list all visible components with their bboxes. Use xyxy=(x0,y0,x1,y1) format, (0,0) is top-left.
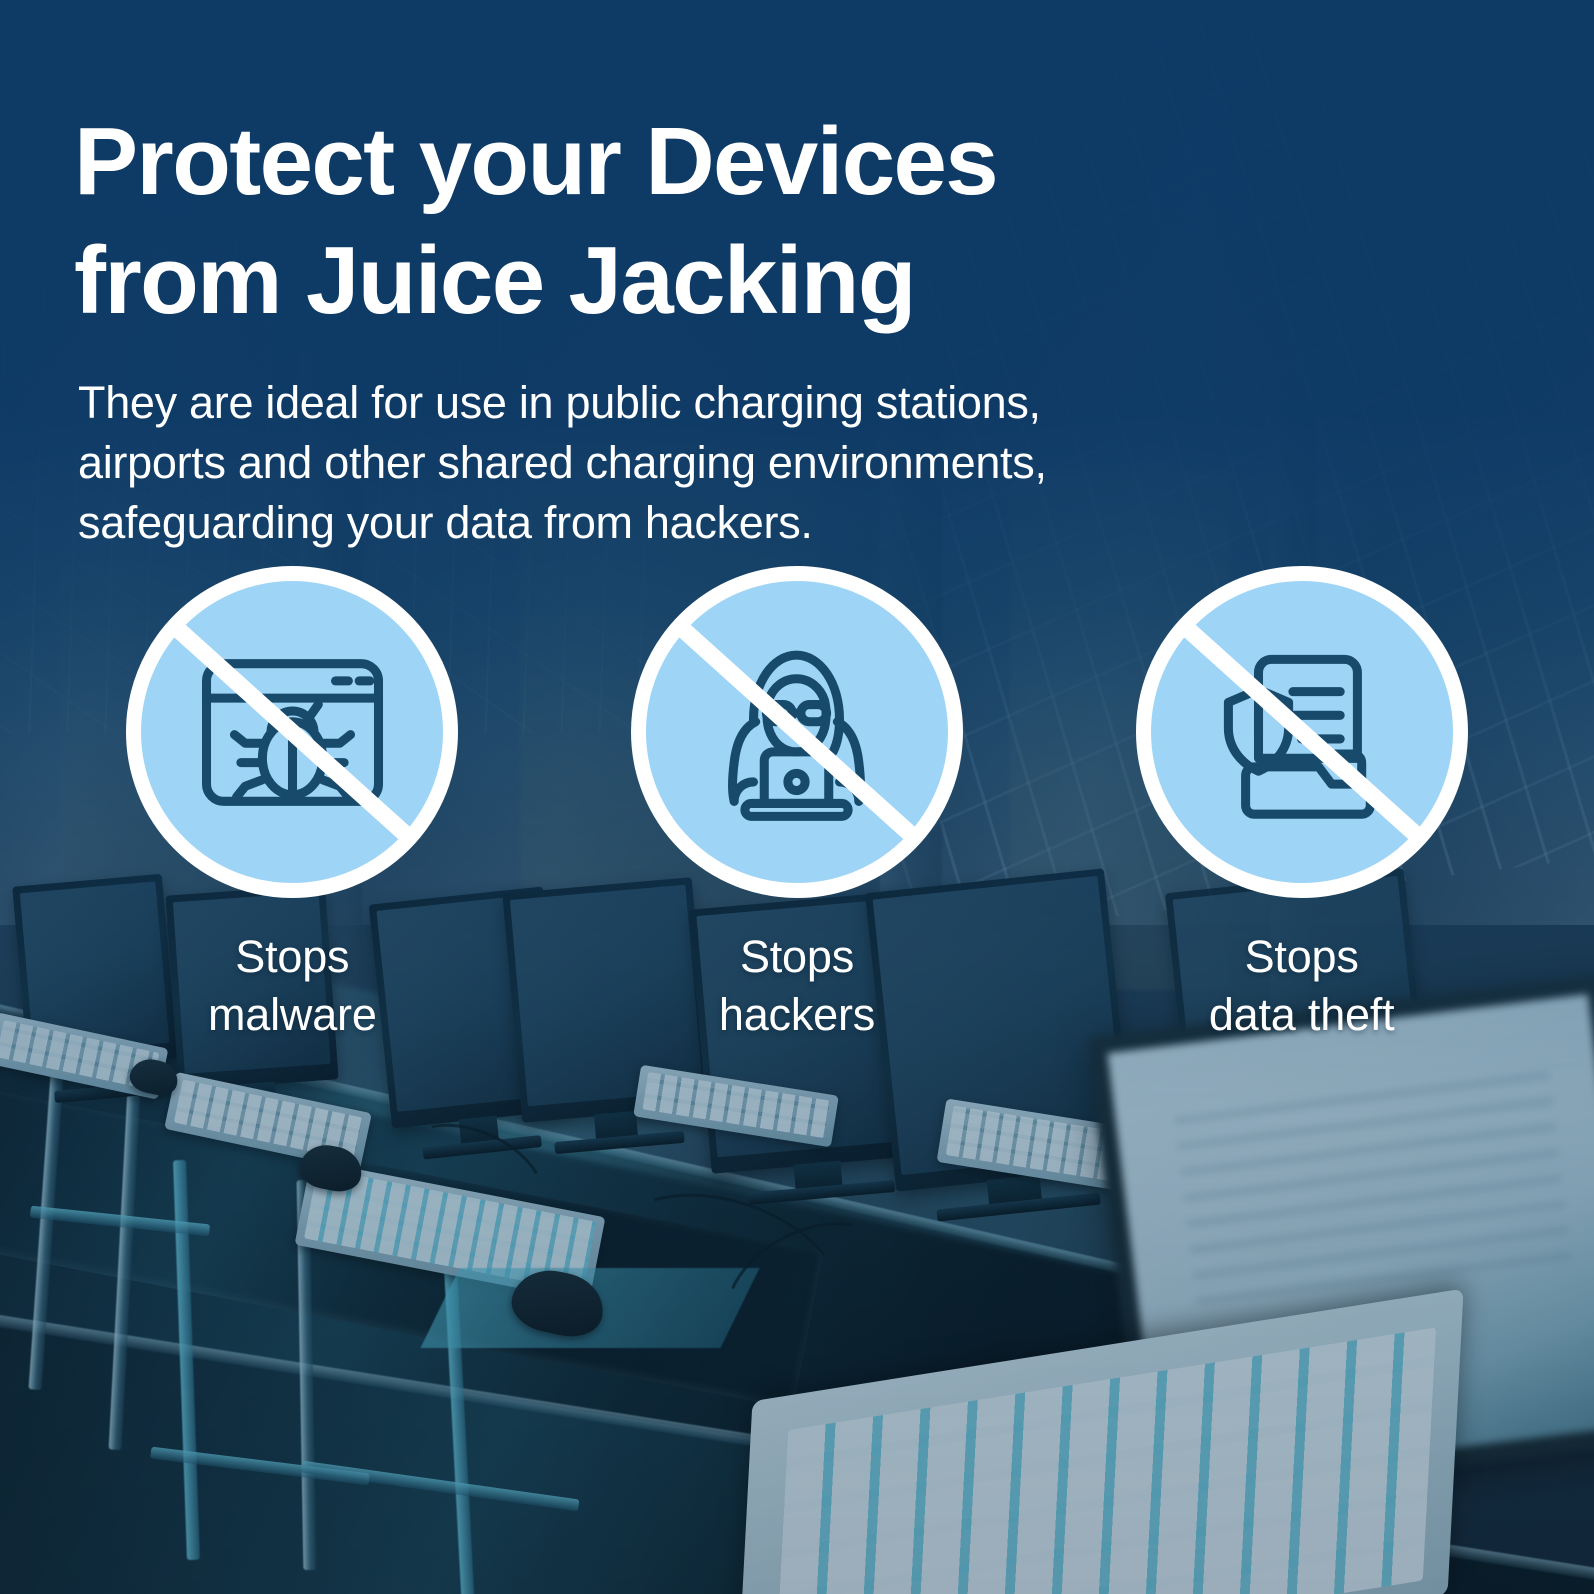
badge-label: Stops malware xyxy=(208,928,377,1043)
prohibition-badge xyxy=(126,566,458,898)
prohibition-badge xyxy=(631,566,963,898)
badge-label-line-2: hackers xyxy=(719,986,875,1044)
subtitle: They are ideal for use in public chargin… xyxy=(78,373,1238,553)
page-title: Protect your Devices from Juice Jacking xyxy=(74,102,1334,340)
badge-label-line-2: malware xyxy=(208,986,377,1044)
badge-label: Stops hackers xyxy=(719,928,875,1043)
subtitle-line-2: airports and other shared charging envir… xyxy=(78,433,1238,493)
headline-line-1: Protect your Devices xyxy=(74,102,1334,221)
poster-content: Protect your Devices from Juice Jacking … xyxy=(0,0,1594,1594)
badge-label-line-1: Stops xyxy=(1209,928,1395,986)
benefit-badges-row: Stops malware xyxy=(0,566,1594,1043)
headline-line-2: from Juice Jacking xyxy=(74,221,1334,340)
subtitle-line-1: They are ideal for use in public chargin… xyxy=(78,373,1238,433)
badge-stops-malware: Stops malware xyxy=(77,566,507,1043)
badge-label-line-1: Stops xyxy=(719,928,875,986)
prohibition-badge xyxy=(1136,566,1468,898)
badge-label-line-2: data theft xyxy=(1209,986,1395,1044)
badge-stops-data-theft: Stops data theft xyxy=(1087,566,1517,1043)
infographic-poster: Protect your Devices from Juice Jacking … xyxy=(0,0,1594,1594)
subtitle-line-3: safeguarding your data from hackers. xyxy=(78,493,1238,553)
badge-label: Stops data theft xyxy=(1209,928,1395,1043)
badge-label-line-1: Stops xyxy=(208,928,377,986)
badge-stops-hackers: Stops hackers xyxy=(582,566,1012,1043)
